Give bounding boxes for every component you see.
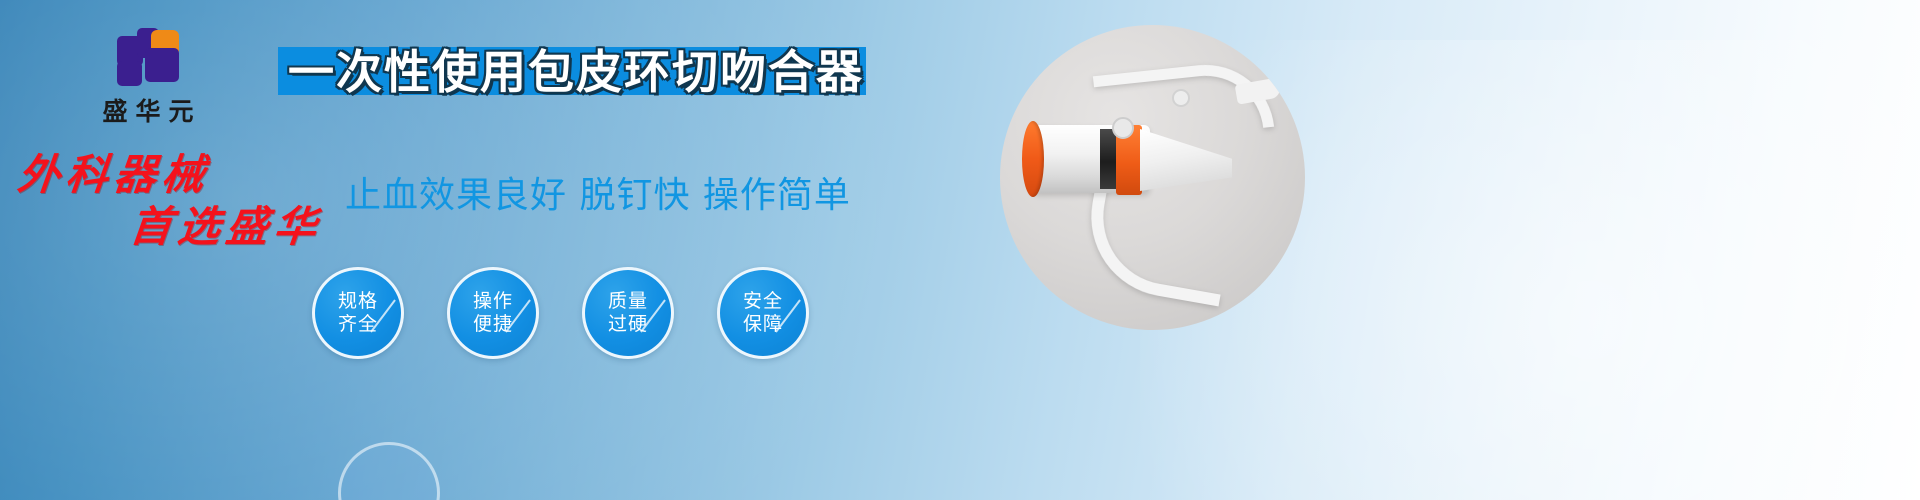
feature-badge-2-line1: 操作 [473, 290, 513, 313]
product-orange-ring [1022, 121, 1044, 197]
feature-badge-4[interactable]: 安全 保障 [717, 267, 809, 359]
feature-badge-1-line1: 规格 [338, 290, 378, 313]
logo-square-bottom [117, 61, 142, 86]
slogan-line-1: 外科器械 [16, 152, 361, 198]
brand-logo[interactable]: 盛华元 [63, 28, 233, 123]
product-cone-head [1140, 129, 1232, 191]
logo-brand-name: 盛华元 [63, 92, 233, 128]
feature-badge-1-line2: 齐全 [338, 313, 378, 336]
feature-badge-2[interactable]: 操作 便捷 [447, 267, 539, 359]
promo-banner: 盛华元 一次性使用包皮环切吻合器 外科器械 首选盛华 止血效果良好 脱钉快 操作… [0, 0, 1920, 500]
feature-badge-1[interactable]: 规格 齐全 [312, 267, 404, 359]
product-pivot-joint [1112, 117, 1134, 139]
feature-badge-4-line2: 保障 [743, 313, 783, 336]
calligraphy-slogan: 外科器械 首选盛华 [18, 152, 358, 262]
feature-badge-4-line1: 安全 [743, 290, 783, 313]
logo-square-right [145, 48, 179, 82]
page-title: 一次性使用包皮环切吻合器 [288, 42, 888, 102]
product-dark-band [1100, 129, 1116, 189]
product-pivot-joint-secondary [1172, 89, 1190, 107]
feature-badge-3-line2: 过硬 [608, 313, 648, 336]
subtitle-text: 止血效果良好 脱钉快 操作简单 [345, 166, 851, 218]
decorative-circle [338, 442, 440, 500]
product-image [1000, 25, 1305, 330]
feature-badge-2-line2: 便捷 [473, 313, 513, 336]
logo-mark-icon [117, 28, 179, 86]
feature-badge-list: 规格 齐全 操作 便捷 质量 过硬 安全 保障 [312, 267, 809, 359]
feature-badge-3-line1: 质量 [608, 290, 648, 313]
slogan-line-2: 首选盛华 [128, 204, 361, 250]
feature-badge-3[interactable]: 质量 过硬 [582, 267, 674, 359]
